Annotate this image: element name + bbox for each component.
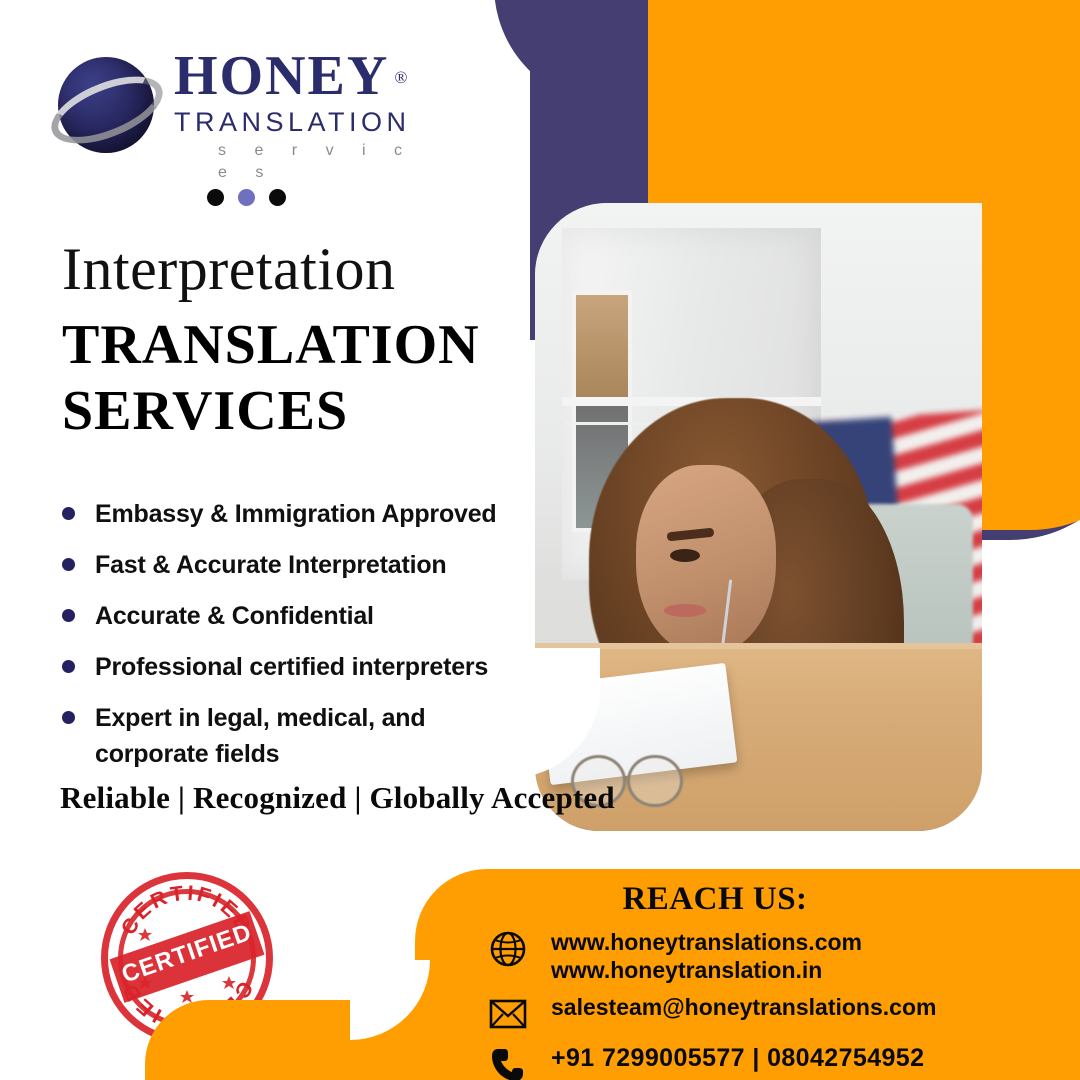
bullet-icon (62, 609, 75, 622)
list-item-label: Fast & Accurate Interpretation (95, 547, 446, 583)
globe-languages-icon: क অ । স ગ இ A य ア ഈ ਪ (52, 53, 164, 165)
bullet-icon (62, 558, 75, 571)
list-item: Professional certified interpreters (56, 649, 526, 685)
decorative-dots (207, 189, 286, 206)
photo-eyebrow (667, 528, 715, 542)
globe-icon (487, 928, 529, 970)
kicker-text: Interpretation (62, 238, 396, 300)
envelope-icon (487, 993, 529, 1035)
photo-face (636, 465, 775, 655)
tagline: Reliable | Recognized | Globally Accepte… (60, 780, 615, 816)
dot-1 (207, 189, 224, 206)
list-item: Accurate & Confidential (56, 598, 526, 634)
website-primary[interactable]: www.honeytranslations.com (551, 928, 862, 956)
list-item-label: Embassy & Immigration Approved (95, 496, 497, 532)
logo-tagline: s e r v i c e s (218, 140, 414, 184)
list-item: Expert in legal, medical, and corporate … (56, 700, 526, 772)
poster-canvas: क অ । স ગ இ A य ア ഈ ਪ HONEY ® T (0, 0, 1080, 1080)
list-item-label: Professional certified interpreters (95, 649, 488, 685)
phone-icon (487, 1044, 529, 1080)
dot-3 (269, 189, 286, 206)
website-secondary[interactable]: www.honeytranslation.in (551, 956, 862, 984)
logo-subtitle: TRANSLATION (174, 106, 414, 138)
list-item-label: Accurate & Confidential (95, 598, 374, 634)
logo-name-text: HONEY (174, 45, 389, 107)
email-address[interactable]: salesteam@honeytranslations.com (551, 993, 936, 1021)
list-item: Fast & Accurate Interpretation (56, 547, 526, 583)
contact-row-website[interactable]: www.honeytranslations.com www.honeytrans… (487, 928, 1077, 984)
bullet-icon (62, 660, 75, 673)
list-item: Embassy & Immigration Approved (56, 496, 526, 532)
phone-numbers[interactable]: +91 7299005577 | 08042754952 (551, 1044, 924, 1072)
dot-2 (238, 189, 255, 206)
registered-trademark-icon: ® (394, 49, 409, 107)
bullet-icon (62, 711, 75, 724)
bullet-icon (62, 507, 75, 520)
page-title: TRANSLATION SERVICES (62, 312, 532, 444)
logo-wordmark: HONEY ® TRANSLATION s e r v i c e s (174, 47, 414, 184)
contact-rows: www.honeytranslations.com www.honeytrans… (487, 928, 1077, 1080)
website-lines: www.honeytranslations.com www.honeytrans… (551, 928, 862, 984)
feature-list: Embassy & Immigration Approved Fast & Ac… (56, 496, 526, 787)
interpreter-at-desk-photo (535, 203, 982, 831)
contact-title: REACH US: (415, 881, 1015, 918)
contact-row-phone[interactable]: +91 7299005577 | 08042754952 (487, 1044, 1077, 1080)
photo-eye (670, 549, 701, 562)
list-item-label: Expert in legal, medical, and corporate … (95, 700, 526, 772)
brand-logo: क অ । স ગ இ A य ア ഈ ਪ HONEY ® T (52, 47, 412, 177)
contact-row-email[interactable]: salesteam@honeytranslations.com (487, 993, 1077, 1035)
logo-name: HONEY ® (174, 47, 389, 105)
photo-lips (664, 604, 706, 617)
